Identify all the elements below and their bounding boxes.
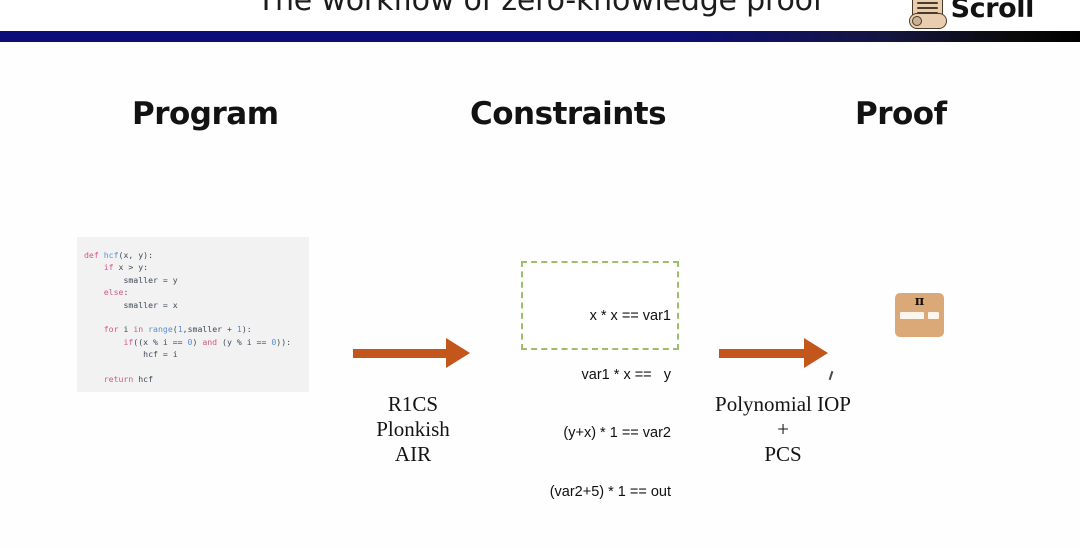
- slide-header: The workflow of zero-knowledge proof Scr…: [0, 0, 1080, 31]
- column-heading-constraints: Constraints: [470, 96, 666, 132]
- arrow-head: [446, 338, 470, 368]
- constraint-row: x * x == var1: [523, 307, 671, 327]
- constraint-row: (var2+5) * 1 == out: [523, 483, 671, 503]
- proof-bar: [928, 312, 939, 319]
- column-heading-program: Program: [132, 96, 279, 132]
- caption-program-to-constraints: R1CS Plonkish AIR: [338, 392, 488, 467]
- header-divider-bar: [0, 31, 1080, 42]
- arrow-head: [804, 338, 828, 368]
- constraint-row: (y+x) * 1 == var2: [523, 424, 671, 444]
- arrow-program-to-constraints: [353, 347, 470, 359]
- scroll-icon: [909, 0, 945, 30]
- proof-bar-row: [900, 312, 939, 319]
- constraint-row: var1 * x == y: [523, 366, 671, 386]
- caption-line: R1CS: [338, 392, 488, 417]
- python-source: def hcf(x, y): if x > y: smaller = y els…: [77, 245, 309, 385]
- pi-symbol: π: [900, 295, 939, 309]
- arrow-shaft: [353, 349, 447, 358]
- proof-certificate-icon: π: [895, 293, 944, 337]
- caption-line: Plonkish: [338, 417, 488, 442]
- scroll-line: [917, 7, 938, 9]
- proof-bar: [900, 312, 924, 319]
- caption-line: AIR: [338, 442, 488, 467]
- scroll-line: [917, 2, 938, 4]
- brand-name: Scroll: [951, 0, 1034, 24]
- column-heading-proof: Proof: [855, 96, 947, 132]
- arrow-shaft: [719, 349, 805, 358]
- slide-body: Program Constraints Proof def hcf(x, y):…: [0, 42, 1080, 548]
- caption-line: +: [700, 417, 866, 442]
- constraints-box: x * x == var1 var1 * x == y (y+x) * 1 ==…: [521, 261, 679, 350]
- scroll-roll: [909, 13, 947, 29]
- caption-line: Polynomial IOP: [700, 392, 866, 417]
- mouse-cursor: [829, 371, 834, 380]
- brand-logo: Scroll: [909, 0, 1034, 30]
- caption-constraints-to-proof: Polynomial IOP + PCS: [700, 392, 866, 467]
- caption-line: PCS: [700, 442, 866, 467]
- program-code-block: def hcf(x, y): if x > y: smaller = y els…: [77, 237, 309, 392]
- arrow-constraints-to-proof: [719, 347, 828, 359]
- constraints-list: x * x == var1 var1 * x == y (y+x) * 1 ==…: [523, 263, 677, 541]
